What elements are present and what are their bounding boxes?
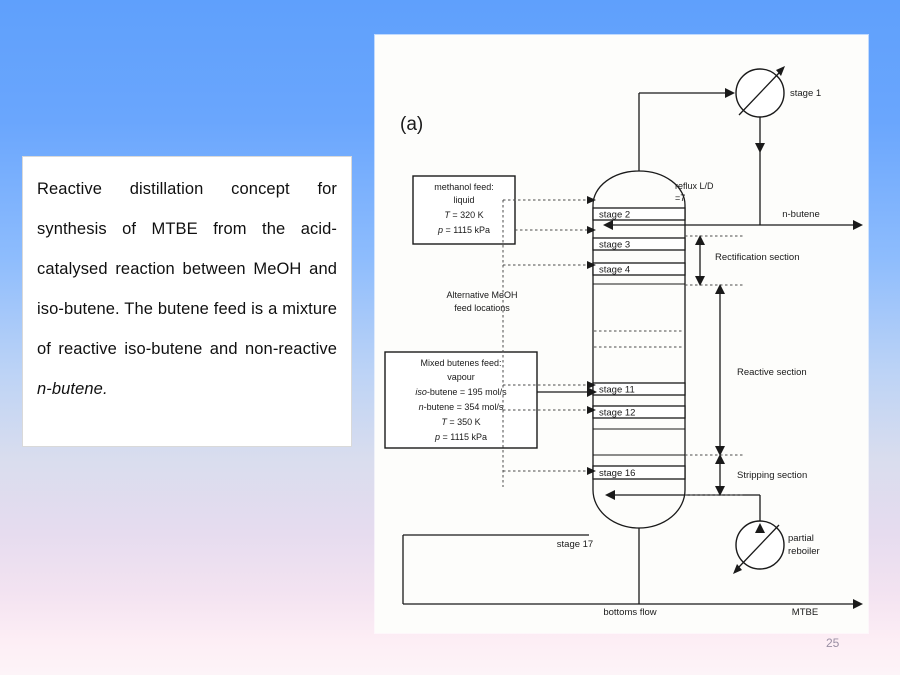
methanol-feed-line1: methanol feed: [434,182,494,192]
butenes-feed-line [537,387,597,397]
butenes-feed-line1: Mixed butenes feed: [420,358,501,368]
stage-11-label: stage 11 [599,385,635,396]
n-butene-product-label: n-butene [782,209,820,220]
stage-2-label: stage 2 [599,210,630,221]
description-text-main: Reactive distillation concept for synthe… [37,180,337,358]
process-flow-diagram: (a) methanol feed: liquid T = 320 K p = … [375,35,868,633]
reflux-arrow [603,220,613,230]
reactive-section-label: Reactive section [737,367,807,378]
reboiler-label-line2: reboiler [788,546,820,557]
stage-3-feed-arrow [587,226,596,234]
description-paragraph: Reactive distillation concept for synthe… [37,169,337,409]
stripping-section-label: Stripping section [737,470,807,481]
stage-3-label: stage 3 [599,240,630,251]
condenser-outlet-arrow [755,143,765,153]
alternative-feed-note: Alternative MeOH feed locations [446,290,517,313]
butenes-feed-temperature: T = 350 K [441,417,480,427]
stage-12-label: stage 12 [599,408,635,419]
rectification-section-label: Rectification section [715,252,799,263]
butenes-feed-pressure: p = 1115 kPa [434,432,487,442]
stage-16-label: stage 16 [599,468,635,479]
diagram-panel: (a) methanol feed: liquid T = 320 K p = … [375,35,868,633]
methanol-feed-box: methanol feed: liquid T = 320 K p = 1115… [413,176,515,244]
page-number: 25 [826,636,839,650]
description-text-italic: n-butene. [37,380,108,398]
stage-4-label: stage 4 [599,265,630,276]
reboiler-label-line1: partial [788,533,814,544]
methanol-feed-temperature: T = 320 K [444,210,483,220]
condenser-stage-1: stage 1 n-butene reflux L/D =7 [603,66,863,230]
vapour-return-arrow [605,490,615,500]
butenes-feed-line2: vapour [447,372,475,382]
description-text-box: Reactive distillation concept for synthe… [22,156,352,447]
methanol-feed-pressure: p = 1115 kPa [437,225,490,235]
condenser-inlet-arrow [725,88,735,98]
stage-17-label: stage 17 [557,539,593,550]
section-brackets: Rectification section Reactive section S… [685,235,807,496]
figure-label: (a) [400,114,423,135]
stage-1-label: stage 1 [790,88,821,99]
methanol-feed-line2: liquid [453,195,474,205]
butenes-feed-box: Mixed butenes feed: vapour iso-butene = … [385,352,537,448]
mtbe-product-label: MTBE [792,607,818,618]
alt-feed-line1: Alternative MeOH [446,290,517,300]
stage-trays: stage 2 stage 3 stage 4 stage 11 stage 1… [593,208,685,479]
butenes-feed-nbutene: n-butene = 354 mol/s [419,402,504,412]
reflux-ratio-line1: reflux L/D [675,181,714,191]
alt-feed-line2: feed locations [454,303,510,313]
n-butene-product-arrow [853,220,863,230]
reflux-ratio-line2: =7 [675,193,685,203]
reboiler-stage-17: stage 17 partial reboiler bottoms flow M… [403,490,863,618]
mtbe-product-arrow [853,599,863,609]
butenes-feed-isobutene: iso-butene = 195 mol/s [415,387,507,397]
bottoms-flow-label: bottoms flow [603,607,656,618]
